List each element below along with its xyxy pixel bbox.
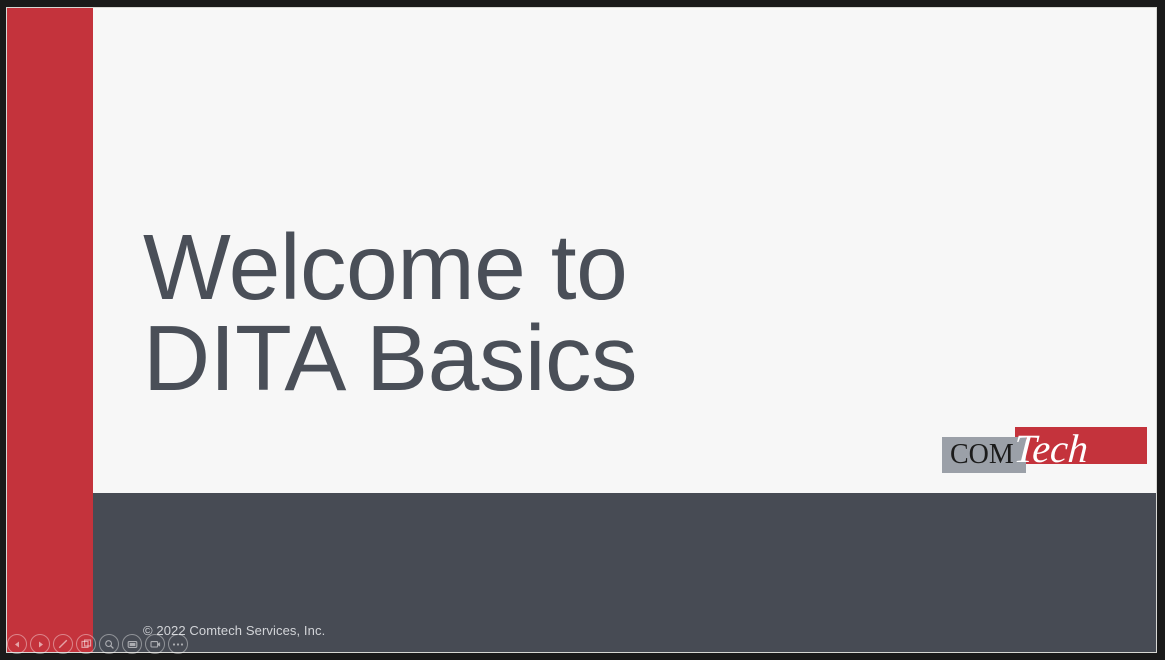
- next-icon: [36, 640, 45, 649]
- zoom-button[interactable]: [99, 634, 119, 654]
- presentation-viewer: Welcome to DITA Basics COM Tech © 2022 C…: [0, 0, 1165, 660]
- screen-button[interactable]: [122, 634, 142, 654]
- previous-slide-button[interactable]: [7, 634, 27, 654]
- comtech-logo: COM Tech: [942, 427, 1147, 477]
- slide-overview-button[interactable]: [76, 634, 96, 654]
- slide-canvas[interactable]: Welcome to DITA Basics COM Tech © 2022 C…: [6, 7, 1157, 653]
- previous-icon: [13, 640, 22, 649]
- screen-icon: [127, 639, 138, 650]
- presenter-view-button[interactable]: [145, 634, 165, 654]
- magnifier-icon: [104, 639, 115, 650]
- slide-accent-bar: [7, 8, 93, 652]
- ellipsis-icon: [172, 642, 184, 647]
- logo-com-text: COM: [950, 439, 1014, 471]
- slide-title: Welcome to DITA Basics: [143, 222, 903, 404]
- pen-tool-button[interactable]: [53, 634, 73, 654]
- logo-tech-text: Tech: [1012, 427, 1089, 471]
- grid-icon: [81, 639, 92, 650]
- next-slide-button[interactable]: [30, 634, 50, 654]
- presenter-icon: [150, 639, 161, 650]
- pen-icon: [57, 638, 69, 650]
- slide-controls-toolbar[interactable]: [7, 633, 188, 655]
- more-options-button[interactable]: [168, 634, 188, 654]
